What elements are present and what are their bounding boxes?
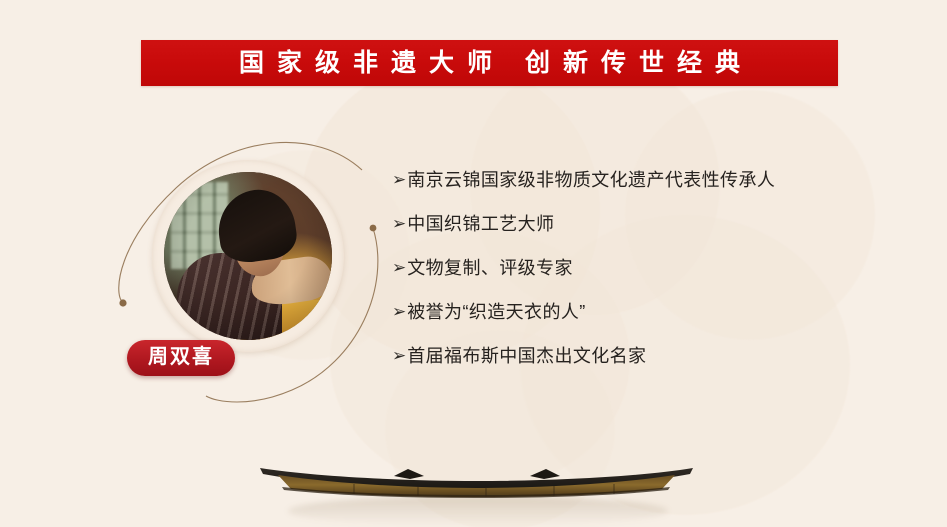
- list-item: ➢ 首届福布斯中国杰出文化名家: [392, 344, 912, 368]
- portrait-photo: [164, 172, 332, 340]
- list-item-label: 南京云锦国家级非物质文化遗产代表性传承人: [407, 168, 775, 192]
- list-item-label: 中国织锦工艺大师: [407, 212, 554, 236]
- photo-vignette: [164, 172, 332, 340]
- credentials-list: ➢ 南京云锦国家级非物质文化遗产代表性传承人 ➢ 中国织锦工艺大师 ➢ 文物复制…: [392, 168, 912, 368]
- banner-title-right: 创新传世经典: [525, 49, 753, 77]
- arrow-bullet-icon: ➢: [392, 344, 406, 368]
- slide-root: 国家级非遗大师创新传世经典 周双喜 ➢ 南京云锦国家级非物质文化遗产代表性传承人: [0, 0, 947, 527]
- banner-text-wrapper: 国家级非遗大师创新传世经典: [226, 51, 753, 76]
- banner-title-left: 国家级非遗大师: [239, 49, 505, 77]
- portrait-block: 周双喜: [110, 140, 390, 405]
- list-item-label: 文物复制、评级专家: [407, 256, 573, 280]
- title-banner: 国家级非遗大师创新传世经典: [141, 40, 838, 86]
- arrow-bullet-icon: ➢: [392, 212, 406, 236]
- name-badge: 周双喜: [127, 340, 235, 376]
- list-item: ➢ 被誉为“织造天衣的人”: [392, 300, 912, 324]
- arrow-bullet-icon: ➢: [392, 300, 406, 324]
- list-item-label: 被誉为“织造天衣的人”: [407, 300, 585, 324]
- arrow-bullet-icon: ➢: [392, 168, 406, 192]
- loom-decoration: [258, 458, 695, 502]
- list-item: ➢ 文物复制、评级专家: [392, 256, 912, 280]
- list-item-label: 首届福布斯中国杰出文化名家: [407, 344, 646, 368]
- arrow-bullet-icon: ➢: [392, 256, 406, 280]
- loom-reflection: [288, 496, 668, 526]
- list-item: ➢ 中国织锦工艺大师: [392, 212, 912, 236]
- list-item: ➢ 南京云锦国家级非物质文化遗产代表性传承人: [392, 168, 912, 192]
